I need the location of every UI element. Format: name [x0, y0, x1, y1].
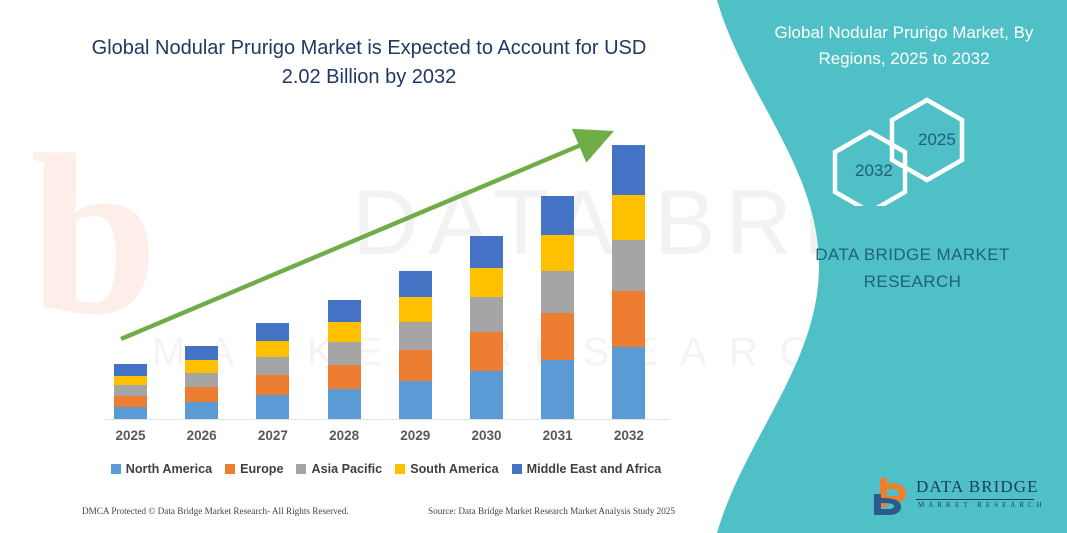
bar-segment [470, 297, 503, 331]
bar-segment [541, 313, 574, 360]
bar-segment [470, 236, 503, 268]
panel-title: Global Nodular Prurigo Market, By Region… [754, 20, 1054, 72]
legend-item[interactable]: North America [111, 462, 212, 476]
bar-segment [399, 297, 432, 321]
x-axis-label-2025: 2025 [101, 428, 161, 443]
bar-segment [256, 375, 289, 395]
x-axis-label-2032: 2032 [599, 428, 659, 443]
x-axis-label-2029: 2029 [385, 428, 445, 443]
bar-2025 [114, 364, 147, 419]
bar-segment [328, 300, 361, 322]
x-axis-label-2030: 2030 [457, 428, 517, 443]
bar-segment [185, 360, 218, 373]
bar-2031 [541, 196, 574, 419]
bar-segment [470, 371, 503, 419]
legend-swatch-icon [225, 464, 235, 474]
bar-segment [328, 342, 361, 365]
bar-2032 [612, 145, 645, 419]
x-axis-label-2026: 2026 [172, 428, 232, 443]
bar-2027 [256, 323, 289, 419]
bar-segment [114, 396, 147, 407]
bar-segment [185, 373, 218, 388]
footer-copyright: DMCA Protected © Data Bridge Market Rese… [82, 506, 349, 516]
bar-segment [185, 387, 218, 402]
bar-segment [114, 385, 147, 396]
hexagon-group [812, 96, 1012, 206]
x-axis-line [104, 419, 670, 420]
logo-divider [916, 499, 1034, 500]
legend-label: Middle East and Africa [527, 462, 662, 476]
chart-plot-area [96, 124, 676, 420]
bar-segment [328, 365, 361, 389]
bar-segment [541, 271, 574, 313]
bar-2028 [328, 300, 361, 419]
bar-segment [185, 346, 218, 361]
x-axis-labels: 20252026202720282029203020312032 [96, 428, 676, 450]
legend-item[interactable]: Middle East and Africa [512, 462, 662, 476]
bar-segment [612, 195, 645, 240]
bar-segment [541, 360, 574, 419]
bar-segment [612, 291, 645, 347]
bar-segment [470, 332, 503, 371]
chart-legend: North AmericaEuropeAsia PacificSouth Ame… [96, 458, 676, 480]
bar-segment [256, 341, 289, 357]
legend-label: South America [410, 462, 498, 476]
bar-2026 [185, 346, 218, 419]
legend-item[interactable]: Europe [225, 462, 283, 476]
legend-swatch-icon [111, 464, 121, 474]
infographic-canvas: b DATA BRIDGE MARKET RESEARCH Global Nod… [0, 0, 1067, 533]
legend-label: Europe [240, 462, 283, 476]
bar-segment [256, 357, 289, 375]
legend-item[interactable]: Asia Pacific [296, 462, 382, 476]
legend-swatch-icon [296, 464, 306, 474]
bar-segment [541, 235, 574, 271]
x-axis-label-2031: 2031 [528, 428, 588, 443]
bar-segment [541, 196, 574, 235]
bar-2030 [470, 236, 503, 419]
legend-swatch-icon [512, 464, 522, 474]
bar-segment [399, 322, 432, 350]
legend-item[interactable]: South America [395, 462, 498, 476]
bar-segment [256, 395, 289, 419]
bar-segment [114, 376, 147, 386]
company-logo: DATA BRIDGE MARKET RESEARCH [872, 474, 1047, 520]
bar-segment [114, 364, 147, 376]
hexagon-2025-label: 2025 [918, 130, 956, 150]
bar-segment [612, 145, 645, 195]
legend-label: North America [126, 462, 212, 476]
bar-segment [612, 240, 645, 291]
hexagon-2032-label: 2032 [855, 161, 893, 181]
bar-2029 [399, 271, 432, 419]
legend-label: Asia Pacific [311, 462, 382, 476]
bar-segment [470, 268, 503, 298]
bar-segment [328, 322, 361, 342]
x-axis-label-2027: 2027 [243, 428, 303, 443]
x-axis-label-2028: 2028 [314, 428, 374, 443]
logo-bridge-icon [872, 474, 916, 518]
legend-swatch-icon [395, 464, 405, 474]
logo-subtitle: MARKET RESEARCH [918, 501, 1046, 509]
bar-segment [399, 350, 432, 381]
bar-segment [612, 347, 645, 419]
panel-brand: DATA BRIDGE MARKET RESEARCH [790, 241, 1035, 295]
bar-segment [328, 389, 361, 419]
page-title: Global Nodular Prurigo Market is Expecte… [84, 34, 654, 92]
logo-title: DATA BRIDGE [916, 477, 1039, 497]
bar-segment [185, 402, 218, 419]
bar-segment [399, 271, 432, 297]
bar-segment [114, 407, 147, 419]
stacked-bar-chart [96, 120, 676, 420]
bar-segment [256, 323, 289, 341]
footer-source: Source: Data Bridge Market Research Mark… [428, 506, 675, 516]
bar-segment [399, 381, 432, 419]
